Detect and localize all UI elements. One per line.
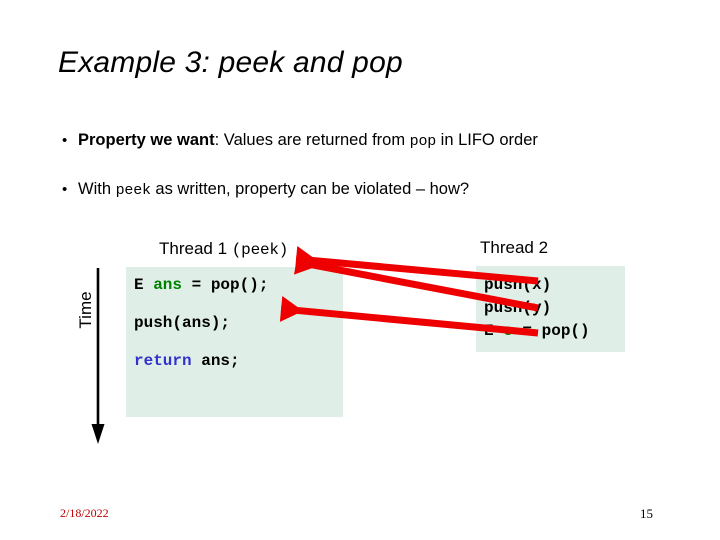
bullet-tail: in LIFO order xyxy=(436,131,538,149)
thread2-label-plain: Thread 2 xyxy=(480,238,548,257)
code-token: e xyxy=(503,322,513,340)
code-token: = pop(); xyxy=(182,276,268,294)
thread1-label-plain: Thread 1 xyxy=(159,239,232,258)
bullet-text: With peek as written, property can be vi… xyxy=(78,180,469,199)
code-token: ans; xyxy=(192,352,240,370)
code-line: push(ans); xyxy=(134,314,343,333)
bullet-bold-lead: Property we want xyxy=(78,131,215,149)
bullet-item-violation: • With peek as written, property can be … xyxy=(62,180,469,199)
bullet-after-bold: With xyxy=(78,180,116,198)
code-token: push(y) xyxy=(484,299,551,317)
code-token xyxy=(134,295,144,313)
code-line: push(x) xyxy=(484,274,625,297)
thread2-label: Thread 2 xyxy=(480,238,548,258)
code-line: push(y) xyxy=(484,297,625,320)
code-line: E ans = pop(); xyxy=(134,276,343,295)
code-token: return xyxy=(134,352,192,370)
slide-canvas: Example 3: peek and pop • Property we wa… xyxy=(0,0,720,540)
code-token: E xyxy=(484,322,503,340)
bullet-tail: as written, property can be violated – h… xyxy=(151,180,469,198)
bullet-text: Property we want: Values are returned fr… xyxy=(78,131,538,150)
thread1-label-code: (peek) xyxy=(232,241,288,259)
bullet-marker-icon: • xyxy=(62,182,78,197)
thread1-label: Thread 1 (peek) xyxy=(159,239,288,259)
code-token: E xyxy=(134,276,153,294)
footer-date: 2/18/2022 xyxy=(60,506,109,521)
time-arrow-down-icon xyxy=(88,268,108,444)
code-line xyxy=(134,295,343,314)
code-token: ans xyxy=(153,276,182,294)
thread2-code-block: push(x)push(y)E e = pop() xyxy=(476,266,625,352)
code-line: E e = pop() xyxy=(484,320,625,343)
code-token: push(x) xyxy=(484,276,551,294)
bullet-item-property: • Property we want: Values are returned … xyxy=(62,131,538,150)
code-token: push(ans); xyxy=(134,314,230,332)
page-title: Example 3: peek and pop xyxy=(58,46,403,80)
inline-code-peek: peek xyxy=(116,182,151,199)
thread1-code-block: E ans = pop(); push(ans); return ans; xyxy=(126,267,343,417)
code-token xyxy=(134,333,144,351)
code-token: = pop() xyxy=(513,322,590,340)
bullet-after-bold: : Values are returned from xyxy=(215,131,410,149)
code-line xyxy=(134,333,343,352)
code-line: return ans; xyxy=(134,352,343,371)
footer-page-number: 15 xyxy=(640,506,653,522)
bullet-marker-icon: • xyxy=(62,133,78,148)
inline-code-pop: pop xyxy=(410,133,436,150)
